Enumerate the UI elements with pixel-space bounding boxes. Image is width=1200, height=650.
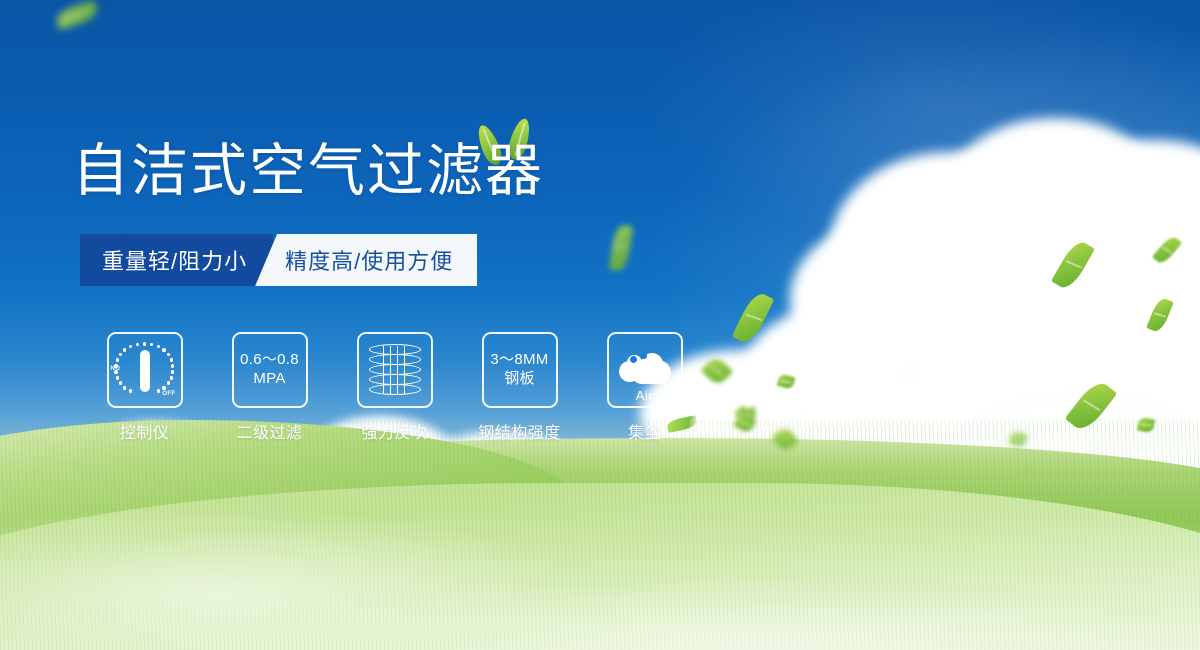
air-label: Air xyxy=(617,388,673,403)
floating-leaf-i xyxy=(1146,296,1174,334)
feature-icon-box: Air xyxy=(607,332,683,408)
hero-content: 自洁式空气过滤器 重量轻/阻力小 精度高/使用方便 xyxy=(70,0,770,650)
floating-leaf-d xyxy=(776,373,795,390)
feature-icon-box: 0.6～0.8 MPA xyxy=(232,332,308,408)
icon-leaf-accent-bottom xyxy=(666,415,698,433)
feature-item-controller[interactable]: NO OFF 控制仪 xyxy=(82,332,207,443)
subtitle-segment-left: 重量轻/阻力小 xyxy=(80,234,273,286)
feature-list: NO OFF 控制仪 0.6～0.8 MPA 二级过滤 xyxy=(82,332,707,443)
subtitle-segment-right: 精度高/使用方便 xyxy=(255,234,477,286)
steel-value-line2: 钢板 xyxy=(504,370,535,389)
feature-label: 二级过滤 xyxy=(236,419,302,443)
pressure-value-line2: MPA xyxy=(253,370,285,389)
feature-label: 控制仪 xyxy=(120,419,170,443)
feature-item-dust[interactable]: Air 集尘 xyxy=(582,332,707,443)
product-hero-banner: 自洁式空气过滤器 重量轻/阻力小 精度高/使用方便 xyxy=(0,0,1200,650)
gauge-dial-icon: NO OFF xyxy=(115,341,175,399)
gauge-label-no: NO xyxy=(111,366,121,372)
feature-icon-box: NO OFF xyxy=(107,332,183,408)
filter-cartridge-icon xyxy=(369,341,421,399)
feature-label: 钢结构强度 xyxy=(478,419,561,443)
page-title: 自洁式空气过滤器 xyxy=(72,143,544,200)
feature-icon-box: 3～8MM 钢板 xyxy=(482,332,558,408)
subtitle-banner: 重量轻/阻力小 精度高/使用方便 xyxy=(80,234,477,286)
feature-item-pressure[interactable]: 0.6～0.8 MPA 二级过滤 xyxy=(207,332,332,443)
feature-label: 强力反吹 xyxy=(361,419,427,443)
floating-leaf-h xyxy=(1152,234,1182,266)
gauge-needle xyxy=(140,350,150,392)
gauge-label-off: OFF xyxy=(162,391,175,397)
pressure-value-line1: 0.6～0.8 xyxy=(240,351,299,370)
floating-leaf-g xyxy=(1051,238,1095,292)
air-cloud-icon: Air xyxy=(617,350,673,390)
feature-label: 集尘 xyxy=(628,419,661,443)
feature-icon-box xyxy=(357,332,433,408)
steel-value-line1: 3～8MM xyxy=(490,351,548,370)
feature-item-steel[interactable]: 3～8MM 钢板 钢结构强度 xyxy=(457,332,582,443)
feature-item-blowback[interactable]: 强力反吹 xyxy=(332,332,457,443)
